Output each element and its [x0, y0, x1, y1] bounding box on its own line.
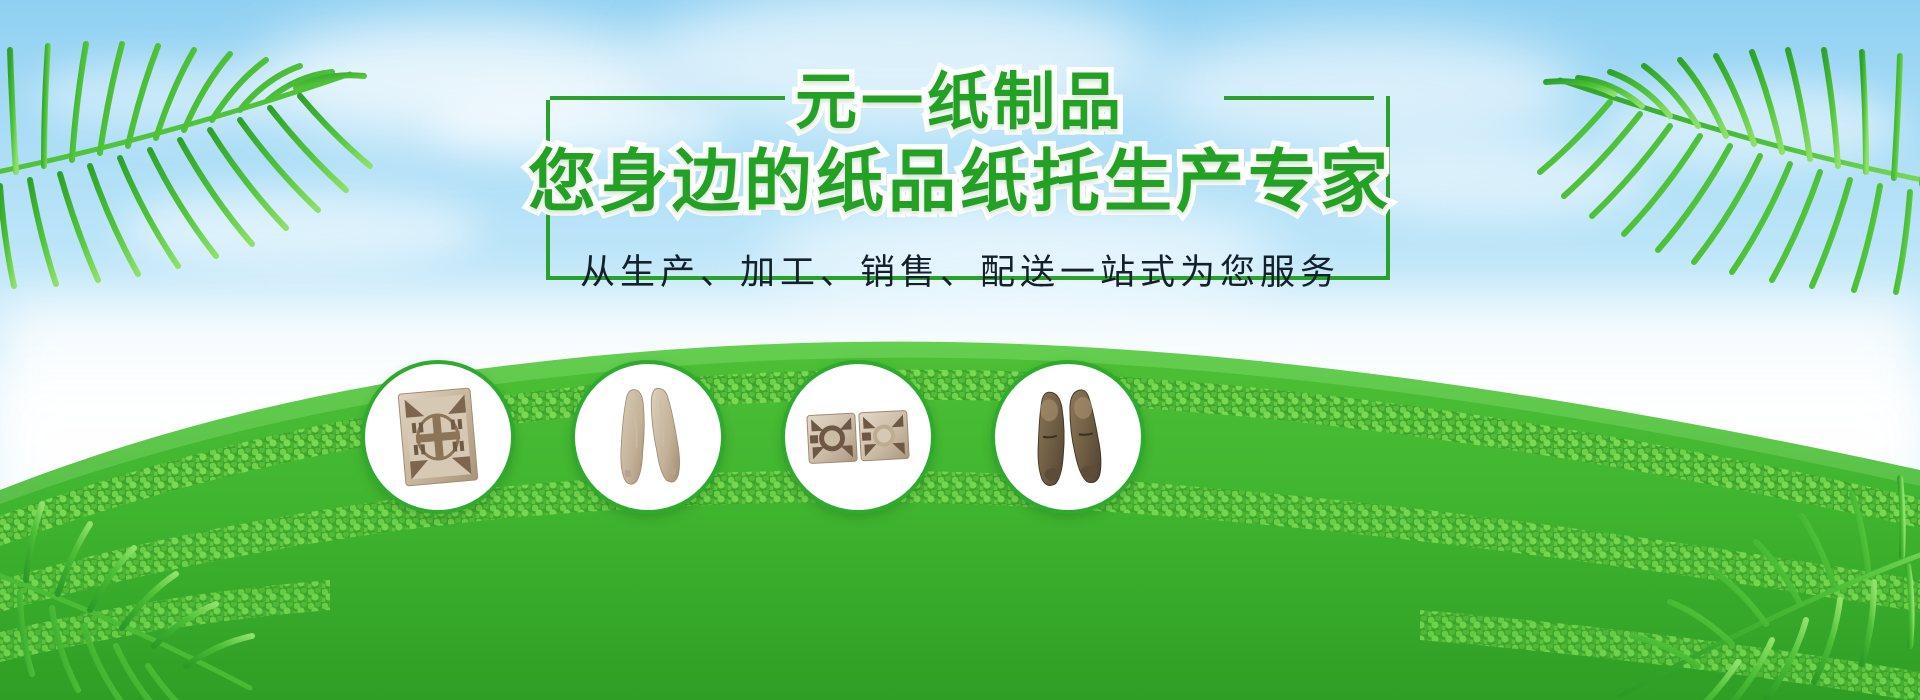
pulp-tray-icon	[382, 381, 494, 493]
pulp-shoeform-icon	[1012, 381, 1124, 493]
product-circle-pulp-corners[interactable]	[781, 360, 935, 514]
company-name: 元一纸制品	[0, 72, 1920, 134]
headline-block: 元一纸制品 您身边的纸品纸托生产专家 从生产、加工、销售、配送一站式为您服务	[0, 72, 1920, 295]
product-showcase-circles	[0, 352, 1920, 552]
subtitle-service-line: 从生产、加工、销售、配送一站式为您服务	[0, 244, 1920, 295]
headline-slogan: 您身边的纸品纸托生产专家	[0, 148, 1920, 216]
product-circle-pulp-insoles[interactable]	[571, 360, 725, 514]
promo-banner: 元一纸制品 您身边的纸品纸托生产专家 从生产、加工、销售、配送一站式为您服务	[0, 0, 1920, 700]
pulp-corner-icon	[802, 381, 914, 493]
pulp-insole-icon	[592, 381, 704, 493]
product-circle-pulp-tray[interactable]	[361, 360, 515, 514]
product-circle-pulp-shoe-forms[interactable]	[991, 360, 1145, 514]
